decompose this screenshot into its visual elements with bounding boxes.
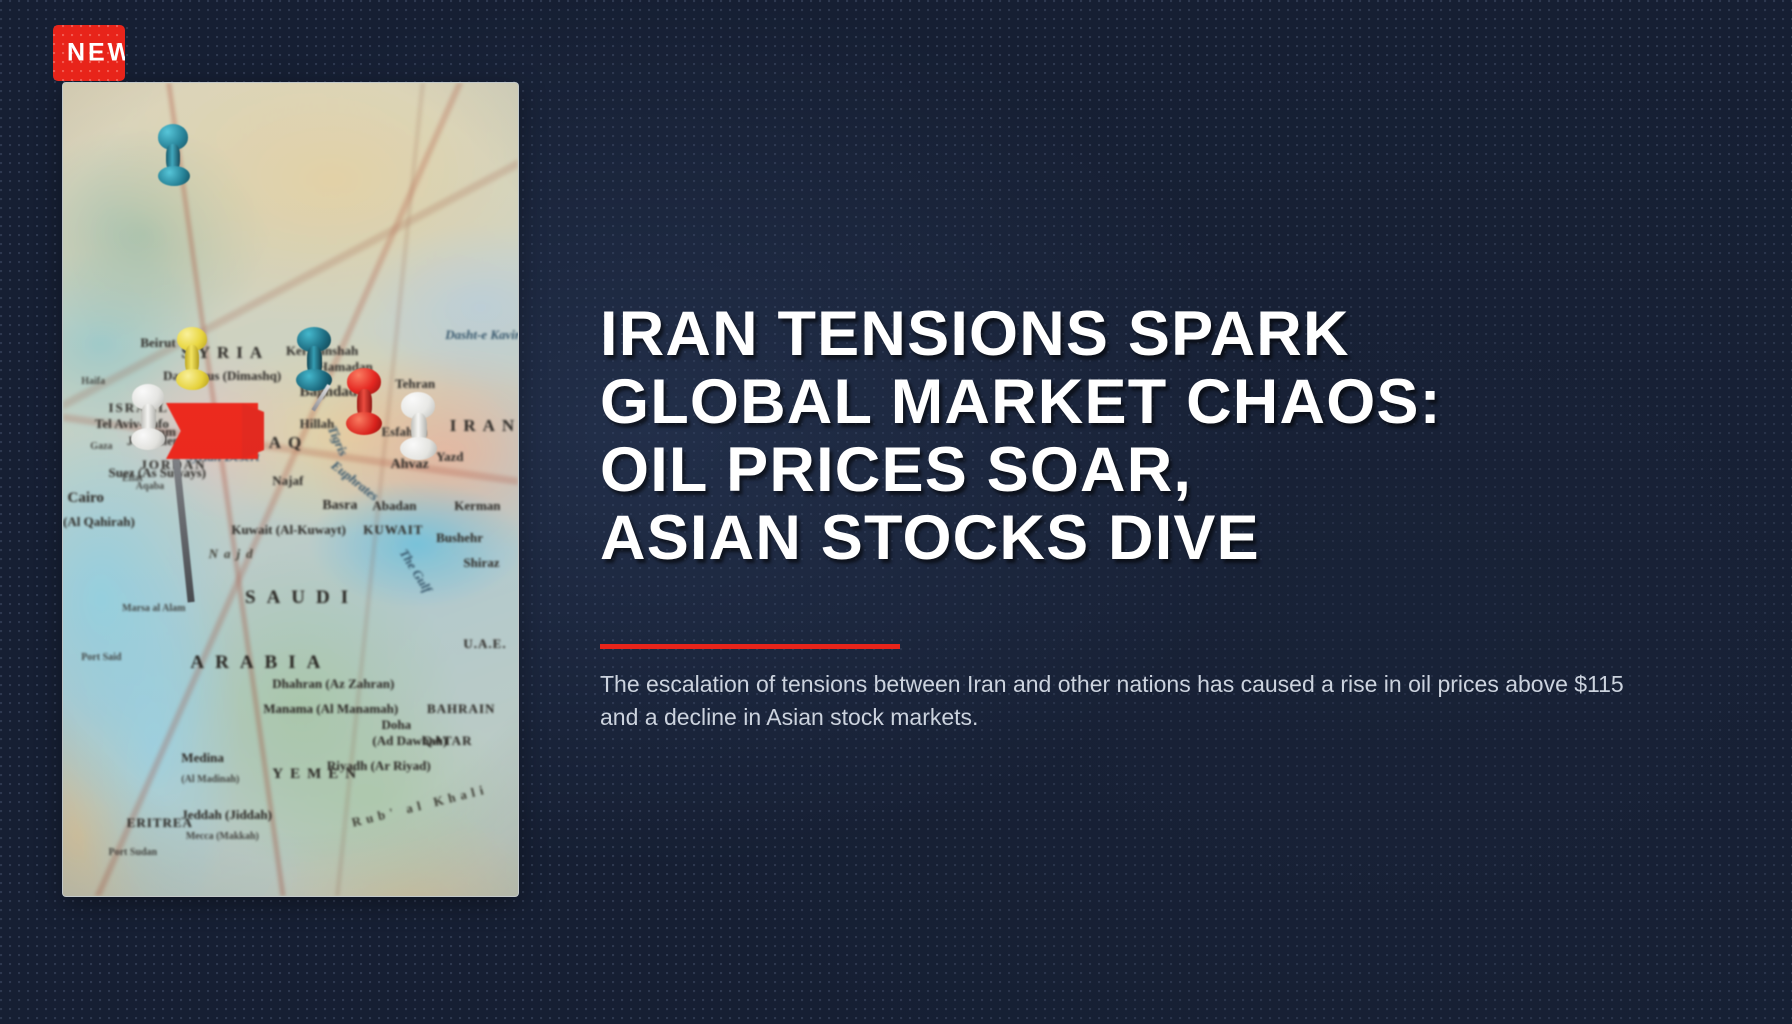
news-card: NEWS SYRIA IRAQ IRAN SAUDI ARABIA ISRAEL…: [0, 0, 1792, 1024]
article-photo: SYRIA IRAQ IRAN SAUDI ARABIA ISRAEL JORD…: [62, 82, 519, 897]
headline-line-4: ASIAN STOCKS DIVE: [600, 504, 1660, 572]
article-content: IRAN TENSIONS SPARK GLOBAL MARKET CHAOS:…: [600, 0, 1680, 1024]
accent-divider: [600, 644, 900, 649]
article-summary: The escalation of tensions between Iran …: [600, 668, 1665, 733]
headline-line-1: IRAN TENSIONS SPARK: [600, 300, 1660, 368]
news-badge-label: NEWS: [67, 41, 125, 66]
headline-line-2: GLOBAL MARKET CHAOS:: [600, 368, 1660, 436]
headline-line-3: OIL PRICES SOAR,: [600, 436, 1660, 504]
article-photo-inner: SYRIA IRAQ IRAN SAUDI ARABIA ISRAEL JORD…: [63, 83, 518, 896]
news-badge: NEWS: [53, 25, 125, 81]
page-title: IRAN TENSIONS SPARK GLOBAL MARKET CHAOS:…: [600, 300, 1660, 572]
photo-vignette: [63, 83, 518, 896]
